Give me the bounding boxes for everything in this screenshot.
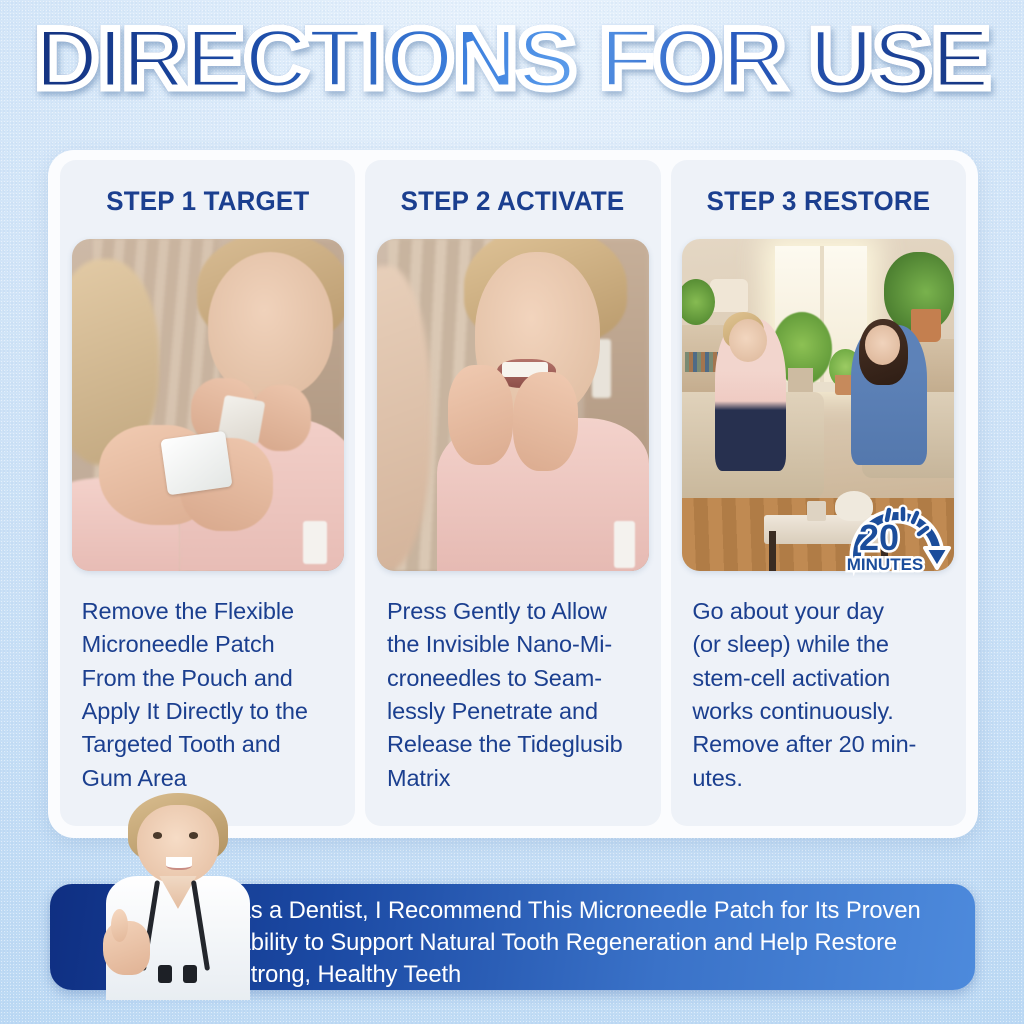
dentist-face [137, 805, 218, 884]
step-3: STEP 3 RESTORE [671, 160, 966, 826]
tea-cup [807, 501, 826, 521]
timer-badge-unit: MINUTES [847, 555, 924, 574]
dentist-smile [166, 857, 193, 869]
hand-right [513, 372, 578, 472]
dentist-thumb-up [111, 909, 128, 942]
loupe-right [183, 965, 197, 984]
step-2-photo [377, 239, 649, 571]
step-2: STEP 2 ACTIVATE Press Gently to Allow th… [365, 160, 660, 826]
page-title: DIRECTIONS FOR USE [0, 14, 1024, 104]
page-title-text: DIRECTIONS FOR USE [34, 11, 989, 107]
counter-bottle [614, 521, 636, 567]
timer-badge-value: 20 [859, 517, 899, 558]
timer-badge: 20 MINUTES [845, 498, 957, 576]
dentist-eye-right [189, 832, 198, 838]
step-1-heading: STEP 1 TARGET [106, 186, 309, 217]
step-1-text: Remove the Flexible Microneedle Patch Fr… [82, 595, 334, 795]
steps-card: STEP 1 TARGET Remove the Flexible Micron… [48, 150, 978, 838]
hand-left [448, 365, 513, 465]
dentist-eye-left [153, 832, 162, 838]
counter-bottle [303, 521, 327, 564]
patch-pouch [161, 431, 233, 496]
dentist-avatar [100, 793, 256, 1000]
loupe-left [158, 965, 172, 984]
table-leg-left [769, 531, 776, 571]
woman-brunette-head [865, 325, 900, 365]
step-1-photo [72, 239, 344, 571]
mirror-woman-face [208, 252, 333, 398]
plant-left [682, 279, 715, 325]
woman-blonde-head [729, 319, 767, 362]
step-1: STEP 1 TARGET Remove the Flexible Micron… [60, 160, 355, 826]
steps-row: STEP 1 TARGET Remove the Flexible Micron… [60, 160, 966, 826]
banner-text: As a Dentist, I Recommend This Microneed… [235, 895, 939, 990]
step-3-text: Go about your day (or sleep) while the s… [692, 595, 944, 795]
step-2-heading: STEP 2 ACTIVATE [401, 186, 625, 217]
step-3-heading: STEP 3 RESTORE [707, 186, 931, 217]
step-2-text: Press Gently to Allow the Invisible Nano… [387, 595, 639, 795]
floor-lamp [710, 279, 748, 312]
